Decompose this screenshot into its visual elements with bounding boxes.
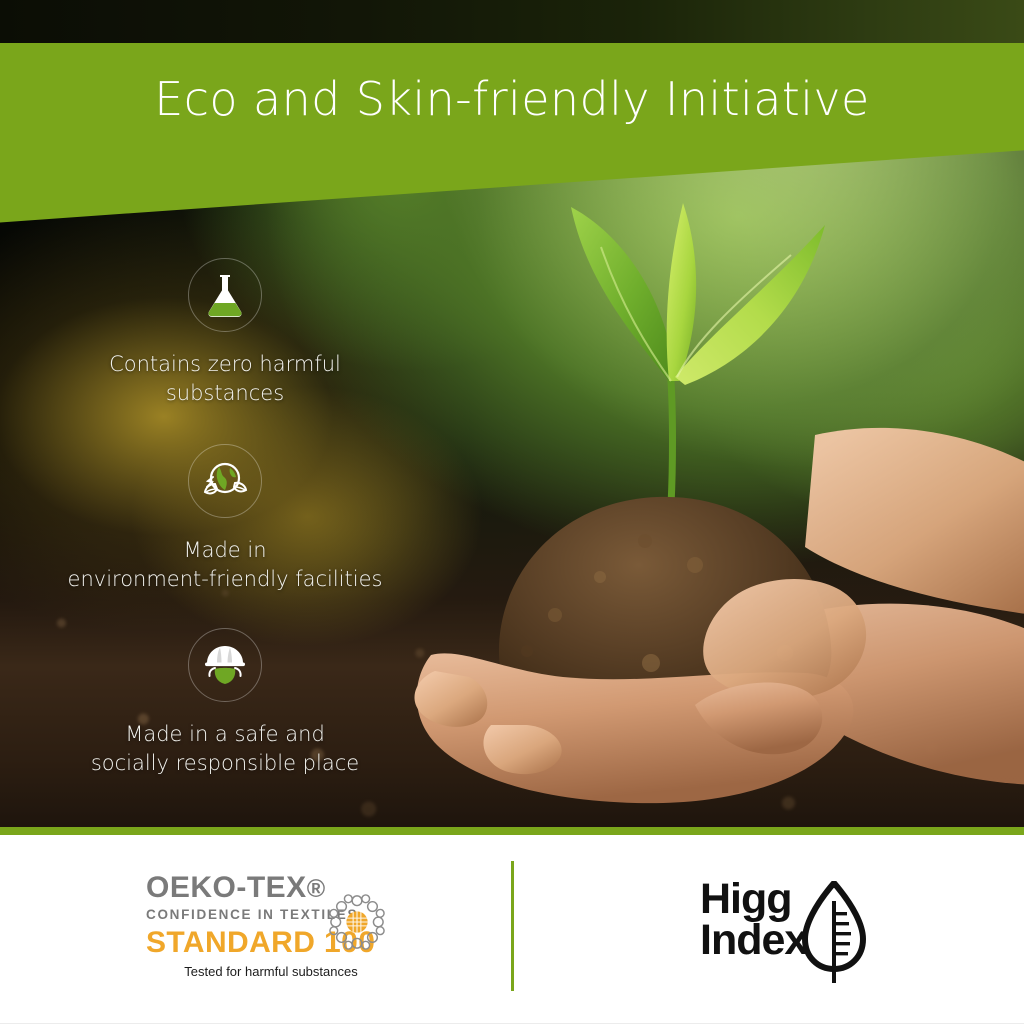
higg-index-line1: Higg [700,879,807,920]
feature-icon-circle [188,628,262,702]
flask-icon [204,272,246,318]
feature-list: Contains zero harmful substances M [60,258,390,800]
certification-footer: OEKO-TEX® CONFIDENCE IN TEXTILES STANDAR… [0,835,1024,1024]
feature-icon-circle [188,444,262,518]
higg-index-logo: Higg Index [700,879,867,985]
globe-leaf-icon [202,459,248,503]
feature-icon-circle [188,258,262,332]
feature-text-line1: Made in [68,536,383,565]
feature-item-environment-friendly-facilities: Made in environment-friendly facilities [60,444,390,594]
higg-index-line2: Index [700,920,807,961]
top-dark-strip [0,0,1024,43]
oeko-tex-emblem-icon [328,893,386,951]
eco-initiative-poster: Eco and Skin-friendly Initiative Contain… [0,0,1024,1024]
feature-item-zero-harmful-substances: Contains zero harmful substances [60,258,390,408]
green-separator-bar [0,827,1024,835]
registered-trademark-icon: ® [307,875,326,903]
hardhat-mask-icon [201,642,249,688]
feature-text: Made in a safe and socially responsible … [91,720,359,778]
higg-leaf-icon [801,881,867,985]
footer-vertical-divider [511,861,514,991]
feature-text-line2: environment-friendly facilities [68,565,383,594]
feature-text-line2: socially responsible place [91,749,359,778]
feature-item-safe-responsible-place: Made in a safe and socially responsible … [60,628,390,778]
oeko-tex-brand-text: OEKO-TEX [146,871,307,904]
feature-text-line1: Contains zero harmful [109,350,341,379]
higg-index-wordmark: Higg Index [700,879,807,961]
hands-holding-seedling-illustration [395,185,1024,805]
page-title: Eco and Skin-friendly Initiative [0,72,1024,126]
feature-text-line1: Made in a safe and [91,720,359,749]
feature-text: Contains zero harmful substances [109,350,341,408]
feature-text: Made in environment-friendly facilities [68,536,383,594]
feature-text-line2: substances [109,379,341,408]
oeko-tex-subtext: Tested for harmful substances [146,965,396,978]
